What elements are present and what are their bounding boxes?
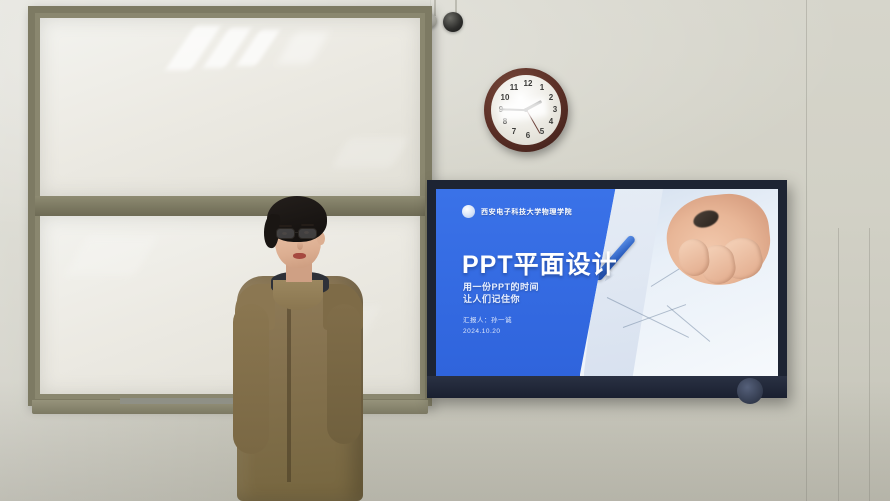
wall-seam-1 <box>806 0 807 501</box>
classroom-photo: 12 1 2 3 4 5 6 7 8 9 10 11 <box>0 0 890 501</box>
clock-numeral: 12 <box>523 79 533 89</box>
presenter-nose <box>297 241 303 250</box>
presenter-mouth <box>293 253 306 259</box>
whiteboard-panel-top <box>40 18 420 196</box>
clock-numeral: 10 <box>500 93 510 103</box>
clock-numeral: 3 <box>550 105 560 115</box>
presenter-arm-right <box>327 304 361 444</box>
smart-interactive-display[interactable]: 西安电子科技大学物理学院 PPT平面设计 用一份PPT的时间 让人们记住你 汇报… <box>427 180 787 398</box>
glasses-lens-right <box>298 228 317 239</box>
whiteboard-panel-bottom <box>40 216 420 394</box>
whiteboard <box>28 6 432 406</box>
clock-numeral: 4 <box>546 117 556 127</box>
presenter-brow-left <box>279 225 292 227</box>
presenter-glasses <box>275 228 323 240</box>
clock-face: 12 1 2 3 4 5 6 7 8 9 10 11 <box>491 75 561 145</box>
wall-clock: 12 1 2 3 4 5 6 7 8 9 10 11 <box>484 68 568 152</box>
glasses-lens-left <box>276 228 295 239</box>
wall-seam-2 <box>838 228 839 501</box>
clock-numeral: 7 <box>509 127 519 137</box>
wall-seam-3 <box>869 228 870 501</box>
presenter-lapel <box>273 280 323 310</box>
presenter <box>231 196 363 501</box>
display-chin <box>427 376 787 398</box>
camera-stalk <box>434 0 436 16</box>
security-camera-icon <box>443 12 463 32</box>
clock-numeral: 1 <box>537 83 547 93</box>
clock-numeral: 11 <box>509 83 519 93</box>
presenter-brow-right <box>301 224 314 226</box>
clock-numeral: 6 <box>523 131 533 141</box>
presenter-hand-upper <box>287 342 317 380</box>
display-bezel <box>427 180 787 398</box>
whiteboard-divider <box>35 196 425 216</box>
presenter-jacket-placket <box>287 292 291 482</box>
display-power-knob[interactable] <box>737 378 763 404</box>
clock-numeral: 2 <box>546 93 556 103</box>
presenter-arm-left <box>233 304 269 454</box>
